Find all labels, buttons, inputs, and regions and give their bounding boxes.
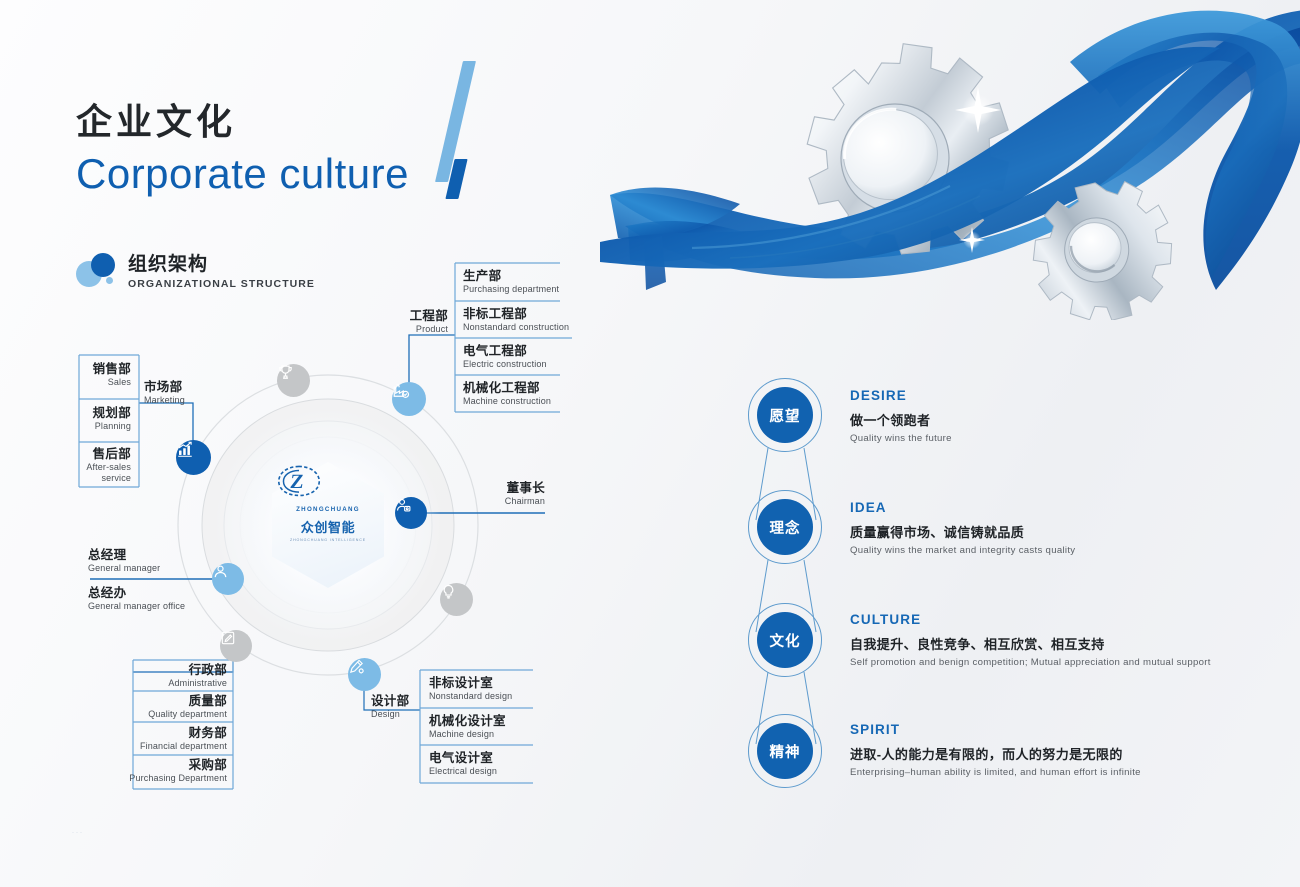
logo-sub-en: ZHONGCHUANG INTELLIGENCE — [290, 538, 366, 542]
org-label-production: 生产部 Purchasing department — [463, 269, 559, 294]
org-label-nonstandard-construction: 非标工程部 Nonstandard construction — [463, 307, 569, 332]
culture-heading: CULTURE — [850, 612, 1211, 627]
org-label-electric-construction: 电气工程部 Electric construction — [463, 344, 547, 369]
org-label-administrative: 行政部 Administrative — [0, 663, 227, 688]
culture-badge-label: 理念 — [770, 517, 801, 538]
culture-text-cn: 质量赢得市场、诚信铸就品质 — [850, 522, 1075, 541]
org-label-sales: 销售部 Sales — [0, 362, 131, 387]
trophy-icon — [277, 364, 310, 397]
org-label-financial: 财务部 Financial department — [0, 726, 227, 751]
org-label-after-sales: 售后部 After-sales service — [0, 447, 131, 483]
ribbon-and-gears-illustration — [600, 0, 1300, 320]
center-logo: Z ZHONGCHUANG 众创智能 ZHONGCHUANG INTELLIGE… — [272, 462, 384, 588]
factory-icon[interactable] — [392, 382, 426, 416]
pencil-gear-icon[interactable] — [348, 658, 381, 691]
culture-text-en: Enterprising–human ability is limited, a… — [850, 767, 1141, 778]
culture-heading: SPIRIT — [850, 722, 1141, 737]
culture-text-cn: 做一个领跑者 — [850, 410, 952, 429]
culture-text-idea: IDEA 质量赢得市场、诚信铸就品质 Quality wins the mark… — [850, 500, 1075, 556]
culture-text-en: Quality wins the market and integrity ca… — [850, 545, 1075, 556]
culture-text-cn: 进取-人的能力是有限的，而人的努力是无限的 — [850, 744, 1141, 763]
decorative-artwork — [600, 0, 1300, 320]
culture-text-spirit: SPIRIT 进取-人的能力是有限的，而人的努力是无限的 Enterprisin… — [850, 722, 1141, 778]
svg-text:Z: Z — [289, 471, 305, 493]
org-label-machine-design: 机械化设计室 Machine design — [429, 714, 506, 739]
corner-mark: ··· — [72, 830, 84, 836]
culture-text-en: Self promotion and benign competition; M… — [850, 657, 1211, 668]
culture-panel: 愿望 DESIRE 做一个领跑者 Quality wins the future… — [726, 370, 1286, 800]
org-label-quality: 质量部 Quality department — [0, 694, 227, 719]
org-label-purchasing: 采购部 Purchasing Department — [0, 758, 227, 783]
edit-icon — [220, 630, 252, 662]
org-label-nonstandard-design: 非标设计室 Nonstandard design — [429, 676, 512, 701]
culture-badge-label: 文化 — [770, 630, 801, 651]
logo-name-cn: 众创智能 — [301, 517, 355, 536]
org-label-planning: 规划部 Planning — [0, 406, 131, 431]
culture-text-cn: 自我提升、良性竞争、相互欣赏、相互支持 — [850, 634, 1211, 653]
org-label-electrical-design: 电气设计室 Electrical design — [429, 751, 497, 776]
culture-heading: IDEA — [850, 500, 1075, 515]
org-label-design: 设计部 Design — [371, 694, 409, 719]
org-label-product: 工程部 Product — [340, 309, 448, 334]
culture-text-en: Quality wins the future — [850, 433, 952, 444]
gear-logo-icon: Z — [272, 462, 326, 502]
bar-chart-icon[interactable] — [176, 440, 211, 475]
culture-heading: DESIRE — [850, 388, 952, 403]
org-label-machine-construction: 机械化工程部 Machine construction — [463, 381, 551, 406]
culture-text-desire: DESIRE 做一个领跑者 Quality wins the future — [850, 388, 952, 444]
org-label-general-manager-office: 总经办 General manager office — [88, 586, 185, 611]
lightbulb-icon — [440, 583, 473, 616]
org-label-chairman: 董事长 Chairman — [420, 481, 545, 506]
culture-badge-label: 愿望 — [770, 405, 801, 426]
user-icon[interactable] — [212, 563, 244, 595]
org-label-general-manager: 总经理 General manager — [88, 548, 160, 573]
org-label-marketing: 市场部 Marketing — [144, 380, 185, 405]
culture-badge-label: 精神 — [770, 741, 801, 762]
logo-pinyin: ZHONGCHUANG — [296, 506, 360, 513]
org-chart: Z ZHONGCHUANG 众创智能 ZHONGCHUANG INTELLIGE… — [0, 0, 620, 887]
culture-text-culture: CULTURE 自我提升、良性竞争、相互欣赏、相互支持 Self promoti… — [850, 612, 1211, 668]
